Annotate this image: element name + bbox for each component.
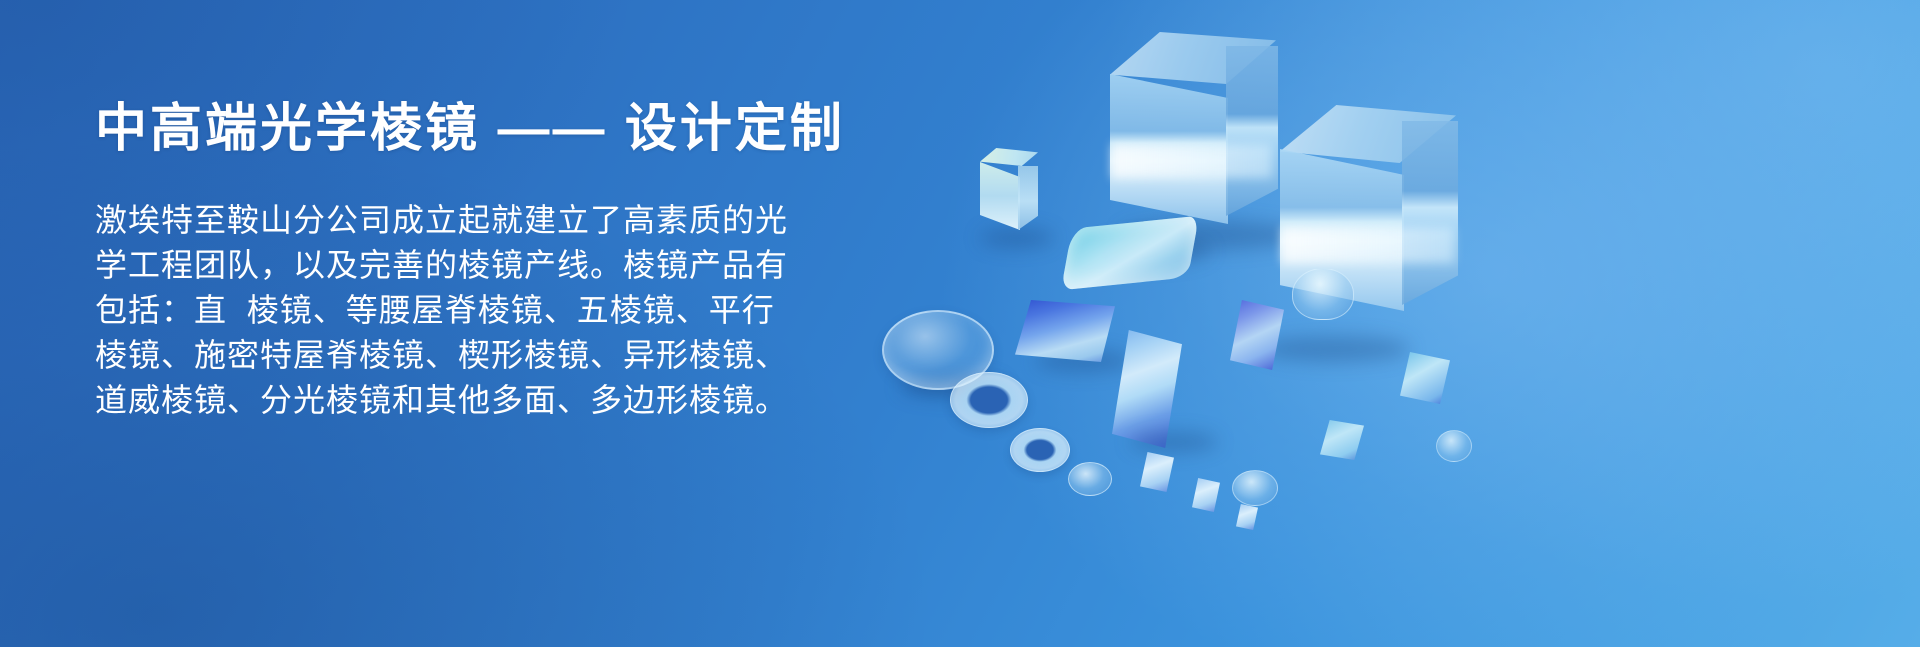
description-line-2: 学工程团队，以及完善的棱镜产线。棱镜产品有 bbox=[95, 243, 815, 288]
cube-right-face bbox=[1402, 121, 1458, 305]
banner-text-block: 中高端光学棱镜 —— 设计定制 激埃特至鞍山分公司成立起就建立了高素质的光 学工… bbox=[95, 100, 815, 423]
side-dome-icon bbox=[1232, 470, 1278, 506]
blue-slanted-plate-icon bbox=[1015, 300, 1115, 362]
ball-lens-icon bbox=[1068, 462, 1112, 496]
chips-shadow bbox=[1130, 432, 1218, 452]
rectangular-bar-prism-icon bbox=[1112, 330, 1182, 448]
square-chip-2-icon bbox=[1192, 478, 1220, 512]
description-line-1: 激埃特至鞍山分公司成立起就建立了高素质的光 bbox=[95, 198, 815, 243]
cylindrical-lens-icon bbox=[1061, 216, 1199, 291]
prism-left-face bbox=[980, 162, 1020, 230]
side-cube-icon bbox=[1320, 420, 1364, 460]
violet-cube-prism-icon bbox=[1230, 300, 1284, 370]
square-chip-1-icon bbox=[1140, 452, 1174, 492]
banner-headline: 中高端光学棱镜 —— 设计定制 bbox=[95, 100, 815, 160]
cube-highlight-band bbox=[1112, 144, 1272, 178]
promo-banner: 中高端光学棱镜 —— 设计定制 激埃特至鞍山分公司成立起就建立了高素质的光 学工… bbox=[0, 0, 1920, 647]
donut-lens-small-icon bbox=[1010, 428, 1070, 472]
dome-lens-icon bbox=[1292, 268, 1354, 320]
banner-description: 激埃特至鞍山分公司成立起就建立了高素质的光 学工程团队，以及完善的棱镜产线。棱镜… bbox=[95, 198, 815, 423]
prism-right-face bbox=[1018, 166, 1038, 230]
prism-top-face bbox=[980, 148, 1038, 166]
cube-front-shadow bbox=[1260, 336, 1410, 362]
cube-highlight-band bbox=[1282, 227, 1454, 263]
cube-right-face bbox=[1226, 46, 1278, 216]
square-chip-3-icon bbox=[1236, 504, 1258, 530]
description-line-5: 道威棱镜、分光棱镜和其他多面、多边形棱镜。 bbox=[95, 378, 815, 423]
donut-lens-large-icon bbox=[950, 372, 1028, 428]
far-right-prism-icon bbox=[1400, 352, 1450, 404]
far-right-dome-icon bbox=[1436, 430, 1472, 462]
description-line-3: 包括：直 棱镜、等腰屋脊棱镜、五棱镜、平行 bbox=[95, 288, 815, 333]
upright-rectangular-prism-icon bbox=[980, 148, 1038, 236]
optical-prisms-artwork bbox=[840, 0, 1920, 647]
beamsplitter-cube-back-icon bbox=[1110, 32, 1276, 244]
description-line-4: 棱镜、施密特屋脊棱镜、楔形棱镜、异形棱镜、 bbox=[95, 333, 815, 378]
